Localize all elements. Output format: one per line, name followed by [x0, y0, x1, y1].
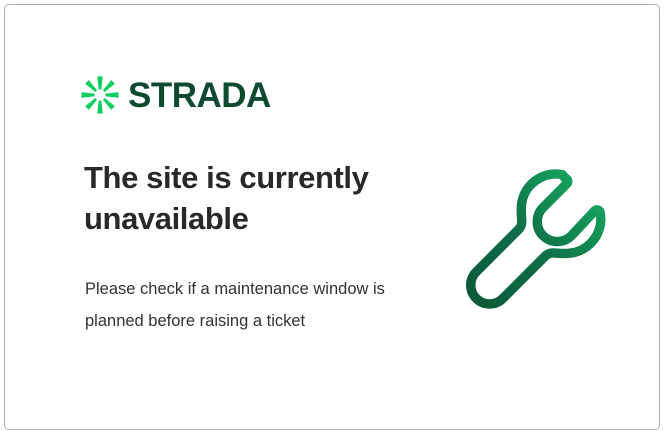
page-description: Please check if a maintenance window is …: [85, 273, 395, 337]
page-title: The site is currently unavailable: [84, 157, 414, 239]
error-page: STRADA The site is currently unavailable…: [0, 0, 666, 436]
wrench-icon: [457, 157, 621, 321]
strada-asterisk-icon: [79, 74, 121, 116]
status-card: STRADA The site is currently unavailable…: [4, 4, 660, 430]
brand-logo: STRADA: [79, 71, 271, 119]
brand-wordmark: STRADA: [128, 78, 271, 113]
